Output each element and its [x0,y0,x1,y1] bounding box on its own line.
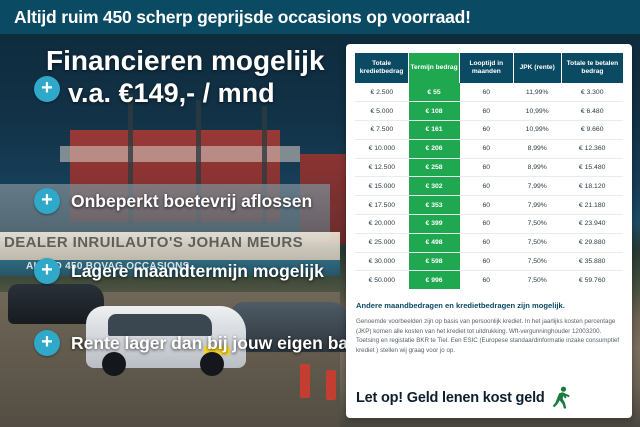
table-row: € 30.000€ 598607,50%€ 35.880 [355,252,623,271]
table-row: € 25.000€ 498607,50%€ 29.880 [355,233,623,252]
table-cell-termijn: € 399 [409,214,460,233]
table-cell: € 12.360 [561,139,623,158]
table-cell: € 21.180 [561,196,623,215]
table-cell: 60 [460,158,514,177]
benefit-label: Rente lager dan bij jouw eigen bank [71,333,369,354]
table-header-cell: JPK (rente) [513,53,561,83]
table-cell: 60 [460,139,514,158]
table-cell-termijn: € 108 [409,102,460,121]
rates-panel: Totale kredietbedrag Termijn bedrag Loop… [346,44,632,418]
table-cell: 60 [460,83,514,101]
table-header-cell: Looptijd in maanden [460,53,514,83]
table-cell: 7,99% [513,196,561,215]
walking-person-icon [551,386,571,410]
table-row: € 5.000€ 1086010,99%€ 6.480 [355,102,623,121]
table-cell: € 12.500 [355,158,409,177]
table-cell: € 2.500 [355,83,409,101]
table-cell-termijn: € 996 [409,271,460,289]
table-cell: 7,50% [513,271,561,289]
table-cell: € 50.000 [355,271,409,289]
table-header-cell: Totale kredietbedrag [355,53,409,83]
note-title: Andere maandbedragen en kredietbedragen … [356,301,622,311]
table-cell: € 29.880 [561,233,623,252]
table-cell-termijn: € 302 [409,177,460,196]
red-bollard [300,364,310,398]
plus-icon: + [34,330,60,356]
table-row: € 15.000€ 302607,99%€ 18.120 [355,177,623,196]
table-header-cell-highlight: Termijn bedrag [409,53,460,83]
table-row: € 7.500€ 1616010,99%€ 9.660 [355,121,623,140]
table-cell: 60 [460,196,514,215]
table-cell: 8,99% [513,139,561,158]
table-cell-termijn: € 598 [409,252,460,271]
table-row: € 12.500€ 258608,99%€ 15.480 [355,158,623,177]
table-cell: € 23.940 [561,214,623,233]
table-cell: € 9.660 [561,121,623,140]
table-row: € 20.000€ 399607,50%€ 23.940 [355,214,623,233]
table-row: € 50.000€ 996607,50%€ 59.760 [355,271,623,289]
table-cell: € 35.880 [561,252,623,271]
table-cell: 11,99% [513,83,561,101]
note-body: Genoemde voorbeelden zijn op basis van p… [356,317,622,355]
table-header-row: Totale kredietbedrag Termijn bedrag Loop… [355,53,623,83]
table-cell-termijn: € 55 [409,83,460,101]
table-cell-termijn: € 161 [409,121,460,140]
table-cell: € 25.000 [355,233,409,252]
loan-rates-body: € 2.500€ 556011,99%€ 3.300€ 5.000€ 10860… [355,83,623,289]
promo-banner-text: Altijd ruim 450 scherp geprijsde occasio… [0,7,471,28]
table-cell: 60 [460,252,514,271]
table-header-cell: Totale te betalen bedrag [561,53,623,83]
table-cell: 60 [460,102,514,121]
promo-banner: Altijd ruim 450 scherp geprijsde occasio… [0,0,640,34]
table-cell: € 59.760 [561,271,623,289]
table-cell: € 10.000 [355,139,409,158]
table-cell: 60 [460,177,514,196]
loan-rates-table: Totale kredietbedrag Termijn bedrag Loop… [355,53,623,289]
table-cell: 60 [460,233,514,252]
warning-block: Let op! Geld lenen kost geld [356,386,622,410]
table-row: € 17.500€ 353607,99%€ 21.180 [355,196,623,215]
table-cell: 7,99% [513,177,561,196]
benefit-item-1: + Onbeperkt boetevrij aflossen [34,188,312,214]
table-row: € 2.500€ 556011,99%€ 3.300 [355,83,623,101]
table-cell: € 17.500 [355,196,409,215]
table-cell: 8,99% [513,158,561,177]
table-cell: 60 [460,271,514,289]
table-cell: € 3.300 [561,83,623,101]
table-cell-termijn: € 353 [409,196,460,215]
table-cell: € 15.000 [355,177,409,196]
table-cell: € 20.000 [355,214,409,233]
table-cell-termijn: € 206 [409,139,460,158]
table-cell: 7,50% [513,214,561,233]
benefit-label: Onbeperkt boetevrij aflossen [71,191,312,212]
table-cell: 10,99% [513,102,561,121]
table-cell: 10,99% [513,121,561,140]
table-cell-termijn: € 258 [409,158,460,177]
benefit-item-2: + Lagere maandtermijn mogelijk [34,258,324,284]
table-cell: 60 [460,121,514,140]
dealer-sign-text: DEALER INRUILAUTO'S JOHAN MEURS [4,234,334,258]
plus-icon: + [34,188,60,214]
plus-icon: + [34,258,60,284]
table-cell: € 30.000 [355,252,409,271]
red-bollard [326,370,336,400]
table-cell: 7,50% [513,252,561,271]
table-cell: € 5.000 [355,102,409,121]
warning-text: Let op! Geld lenen kost geld [356,390,545,406]
table-cell: € 18.120 [561,177,623,196]
table-cell: 60 [460,214,514,233]
table-cell: 7,50% [513,233,561,252]
table-cell: € 7.500 [355,121,409,140]
table-cell: € 15.480 [561,158,623,177]
table-cell-termijn: € 498 [409,233,460,252]
table-cell: € 6.480 [561,102,623,121]
benefit-item-3: + Rente lager dan bij jouw eigen bank [34,330,369,356]
hero-headline-line1: Financieren mogelijk [46,46,346,75]
benefit-label: Lagere maandtermijn mogelijk [71,261,324,282]
hero-headline: Financieren mogelijk v.a. €149,- / mnd [46,46,346,109]
table-row: € 10.000€ 206608,99%€ 12.360 [355,139,623,158]
hero-headline-line2: v.a. €149,- / mnd [46,79,346,109]
